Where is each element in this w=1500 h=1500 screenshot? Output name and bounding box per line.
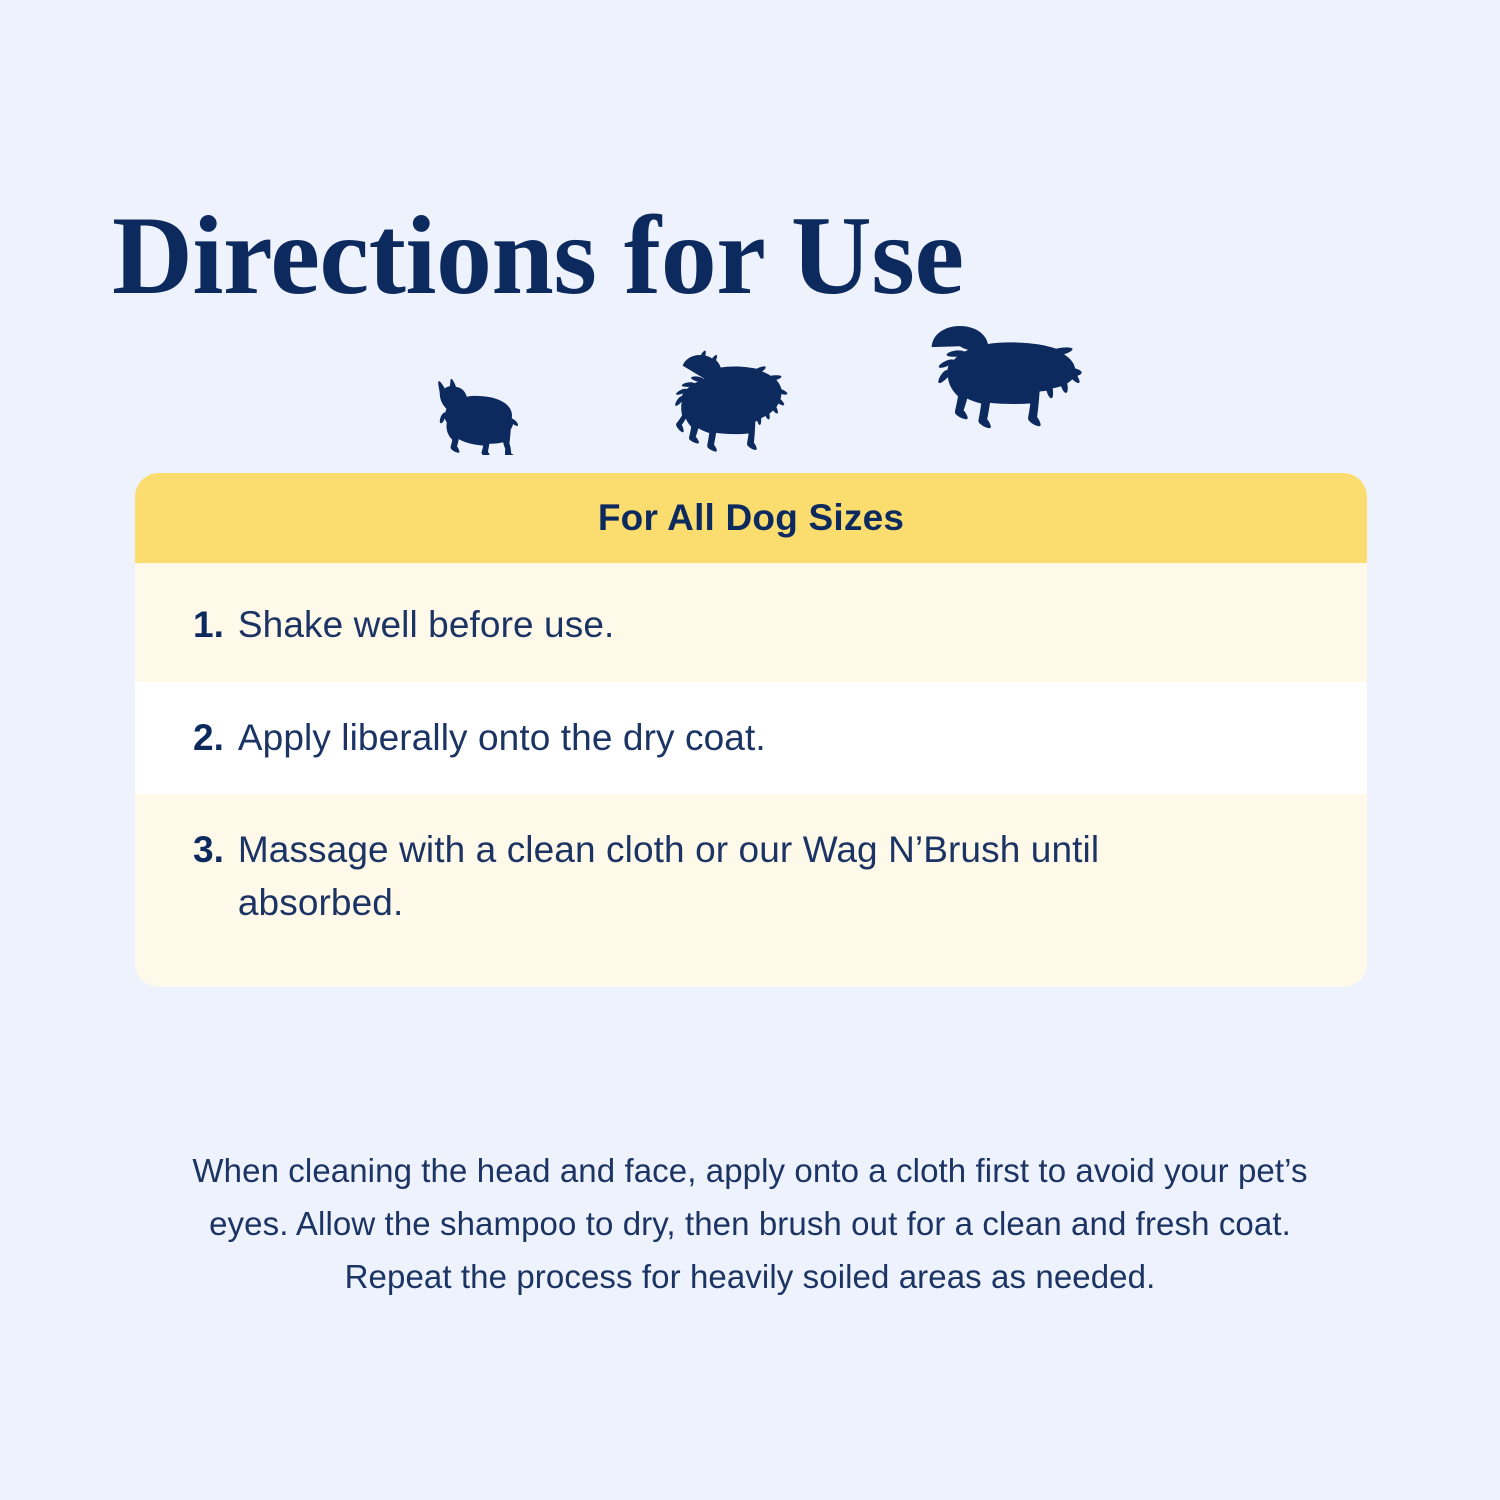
instructions-card: For All Dog Sizes 1. Shake well before u… — [135, 473, 1367, 987]
dog-size-illustration-row — [0, 300, 1500, 455]
steps-list: 1. Shake well before use. 2. Apply liber… — [135, 563, 1367, 987]
large-dog-silhouette-icon — [898, 323, 1085, 455]
step-text-1: Shake well before use. — [238, 599, 615, 652]
step-item-3: 3. Massage with a clean cloth or our Wag… — [135, 794, 1367, 987]
directions-for-use-panel: Directions for Use For All Dog Sizes 1 — [0, 0, 1500, 1500]
step-item-1: 1. Shake well before use. — [135, 563, 1367, 682]
card-header-band: For All Dog Sizes — [135, 473, 1367, 563]
step-item-2: 2. Apply liberally onto the dry coat. — [135, 682, 1367, 795]
page-title: Directions for Use — [112, 198, 964, 316]
small-dog-silhouette-icon — [420, 379, 518, 455]
step-number-1: 1. — [193, 599, 224, 652]
step-number-3: 3. — [193, 824, 224, 877]
step-text-2: Apply liberally onto the dry coat. — [238, 712, 766, 765]
medium-dog-silhouette-icon — [650, 350, 798, 455]
footer-note: When cleaning the head and face, apply o… — [190, 1145, 1310, 1303]
step-text-3: Massage with a clean cloth or our Wag N’… — [238, 824, 1268, 929]
step-number-2: 2. — [193, 712, 224, 765]
card-header-title: For All Dog Sizes — [598, 497, 904, 539]
